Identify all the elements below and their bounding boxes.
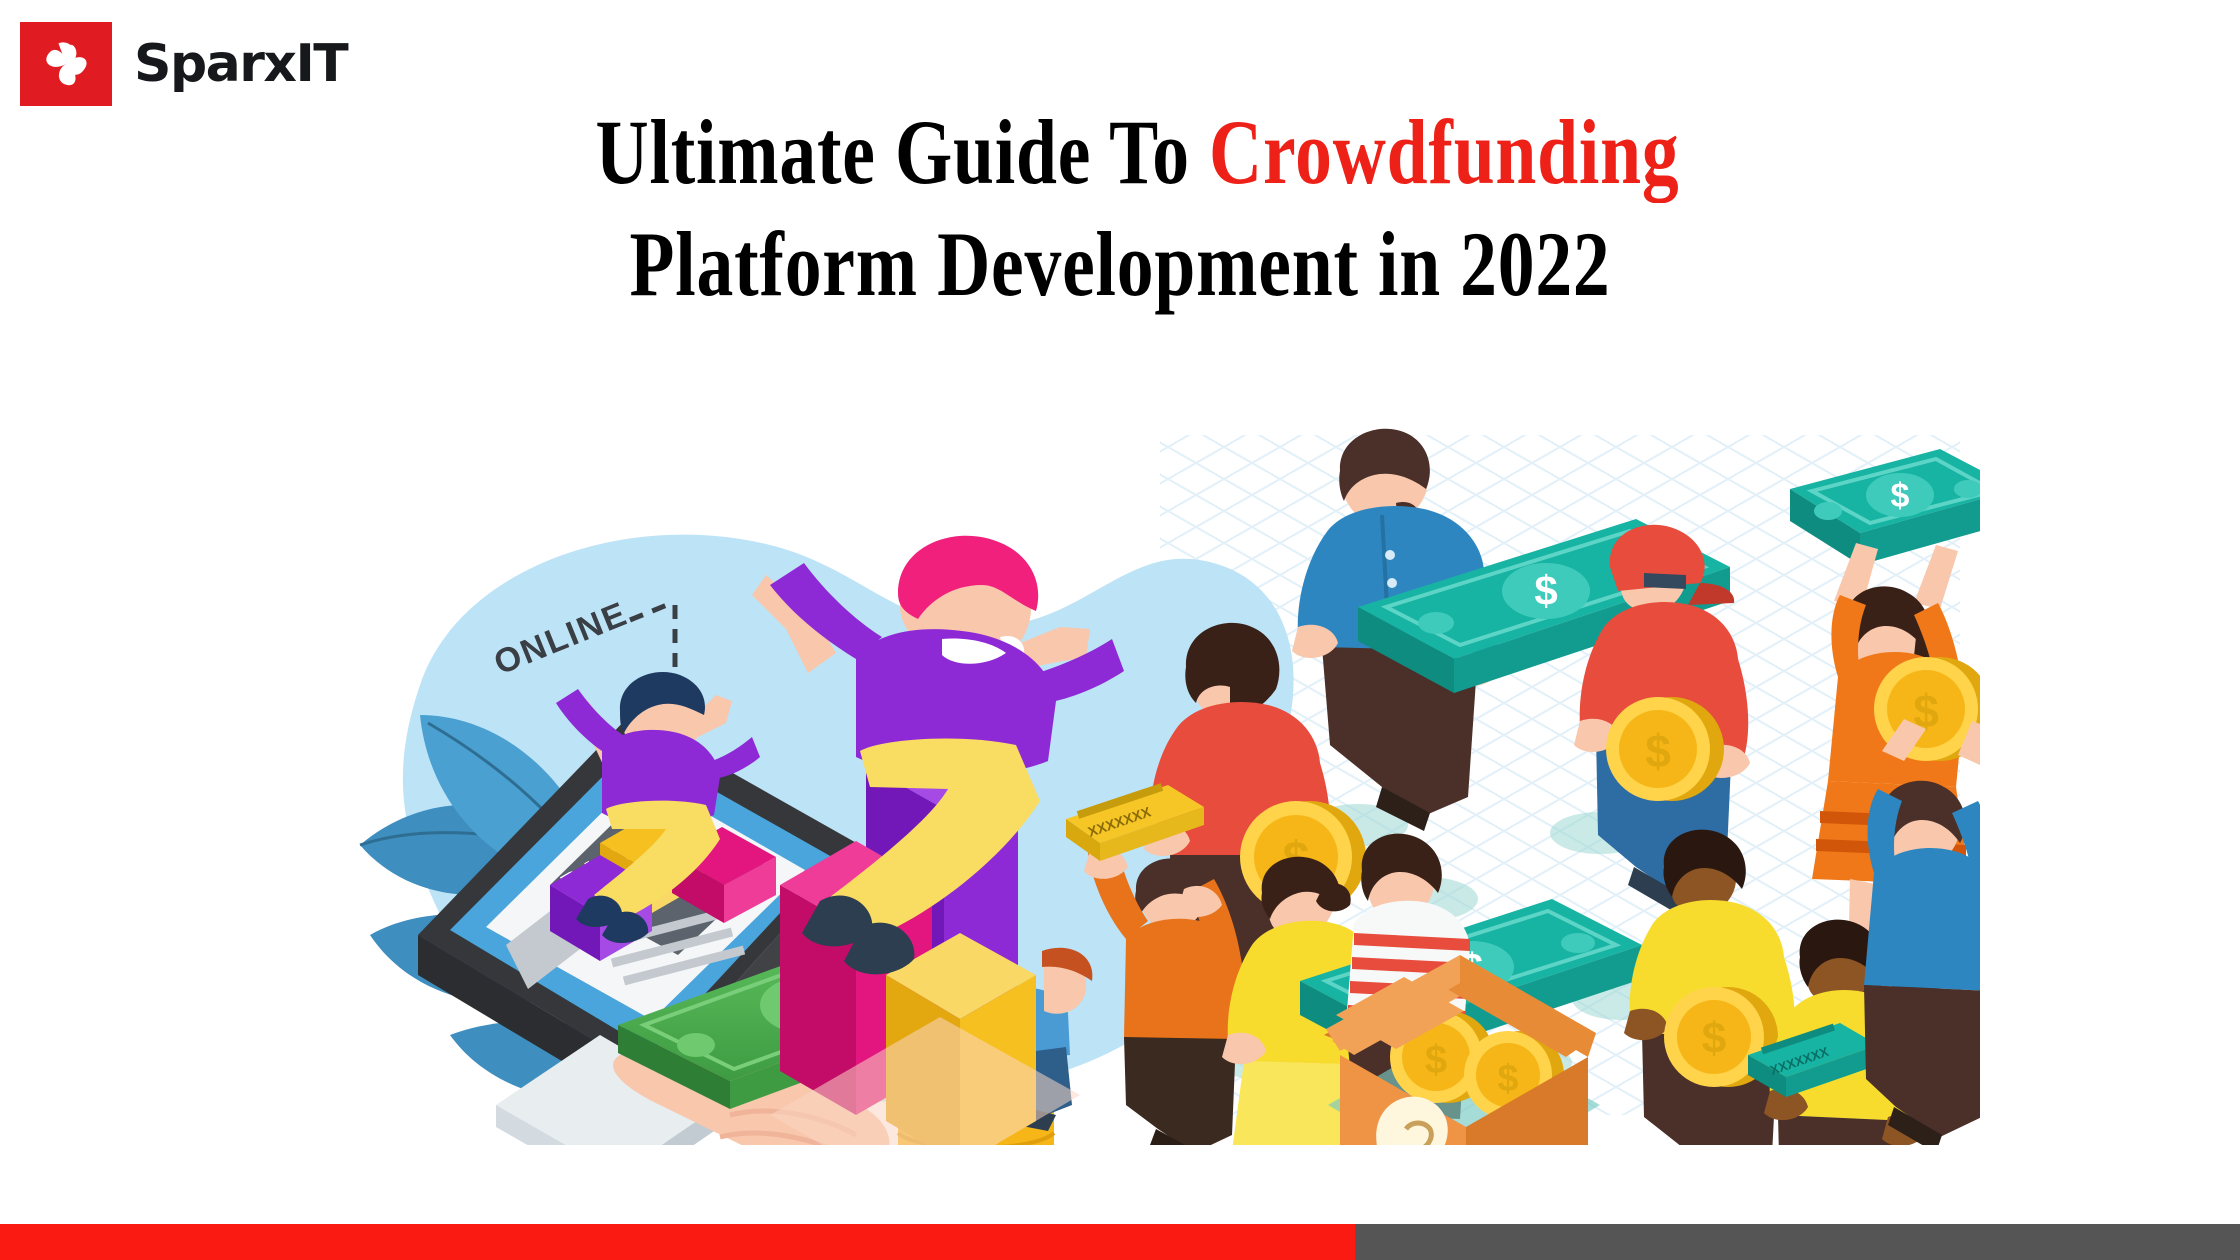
person-blue-arms-up-coin: $ bbox=[1864, 657, 1980, 1145]
title-line-2: Platform Development in 2022 bbox=[224, 208, 2016, 320]
poster-canvas: SparxIT Ultimate Guide To Crowdfunding P… bbox=[0, 0, 2240, 1260]
title-line-1-accent: Crowdfunding bbox=[1209, 101, 1679, 203]
crowdfunding-illustration: ONLINE BACKER bbox=[300, 415, 1980, 1145]
pinwheel-icon bbox=[20, 22, 112, 106]
bottom-bar-red-segment bbox=[0, 1224, 1355, 1260]
svg-text:$: $ bbox=[1645, 725, 1671, 777]
brand-name: SparxIT bbox=[134, 38, 347, 90]
title-line-1-prefix: Ultimate Guide To bbox=[596, 101, 1209, 203]
bottom-bar-gray-segment bbox=[1355, 1224, 2240, 1260]
title-line-1: Ultimate Guide To Crowdfunding bbox=[256, 96, 2020, 208]
svg-text:$: $ bbox=[1702, 1014, 1726, 1063]
svg-text:$: $ bbox=[1891, 477, 1910, 515]
svg-text:$: $ bbox=[1534, 567, 1557, 614]
brand-logo[interactable]: SparxIT bbox=[20, 22, 347, 106]
page-title: Ultimate Guide To Crowdfunding Platform … bbox=[0, 96, 2240, 320]
bottom-accent-bar bbox=[0, 1224, 2240, 1260]
